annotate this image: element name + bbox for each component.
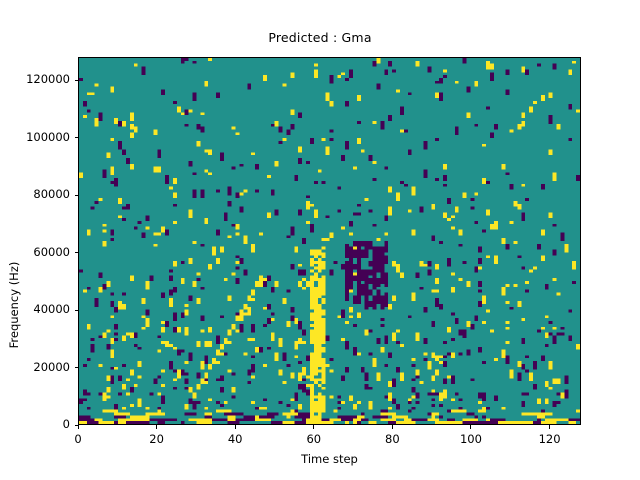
x-tick-mark <box>470 425 471 429</box>
matplotlib-figure: Predicted : Gma Frequency (Hz) 020000400… <box>0 0 640 480</box>
x-tick-mark <box>156 425 157 429</box>
x-tick-mark <box>78 425 79 429</box>
y-tick-label: 80000 <box>33 187 70 201</box>
y-tick-label: 60000 <box>33 245 70 259</box>
x-tick-mark <box>392 425 393 429</box>
y-tick-label: 40000 <box>33 302 70 316</box>
y-axis: Frequency (Hz) 0200004000060000800001000… <box>0 57 78 425</box>
y-tick-label: 0 <box>63 417 70 431</box>
x-tick-label: 0 <box>38 432 118 446</box>
x-tick-label: 20 <box>117 432 197 446</box>
page-title: Predicted : Gma <box>0 30 640 45</box>
heatmap-image <box>79 58 580 424</box>
y-axis-label: Frequency (Hz) <box>7 225 21 385</box>
x-tick-mark <box>235 425 236 429</box>
x-tick-label: 80 <box>352 432 432 446</box>
x-tick-label: 120 <box>510 432 590 446</box>
x-tick-label: 40 <box>195 432 275 446</box>
y-tick-label: 100000 <box>26 130 70 144</box>
x-tick-label: 60 <box>274 432 354 446</box>
x-tick-label: 100 <box>431 432 511 446</box>
x-axis-label: Time step <box>78 452 581 466</box>
y-tick-label: 20000 <box>33 360 70 374</box>
x-tick-mark <box>549 425 550 429</box>
heatmap-plot-area[interactable] <box>78 57 581 425</box>
x-tick-mark <box>313 425 314 429</box>
y-tick-label: 120000 <box>26 72 70 86</box>
